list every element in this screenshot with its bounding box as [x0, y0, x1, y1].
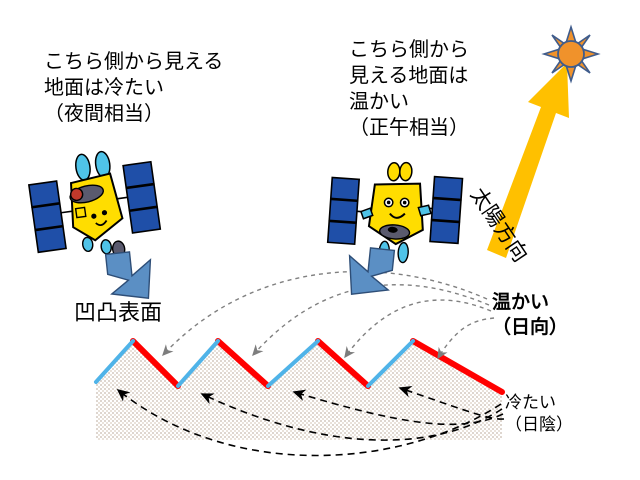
surface-label: 凹凸表面: [74, 300, 162, 329]
diagram-canvas: こちら側から見える 地面は冷たい （夜間相当） こちら側から 見える地面は 温か…: [0, 0, 640, 480]
caption-right: こちら側から 見える地面は 温かい （正午相当）: [349, 36, 469, 140]
warm-label: 温かい （日向）: [492, 290, 568, 341]
cold-label: 冷たい （日陰）: [505, 392, 573, 437]
caption-left: こちら側から見える 地面は冷たい （夜間相当）: [44, 48, 223, 126]
